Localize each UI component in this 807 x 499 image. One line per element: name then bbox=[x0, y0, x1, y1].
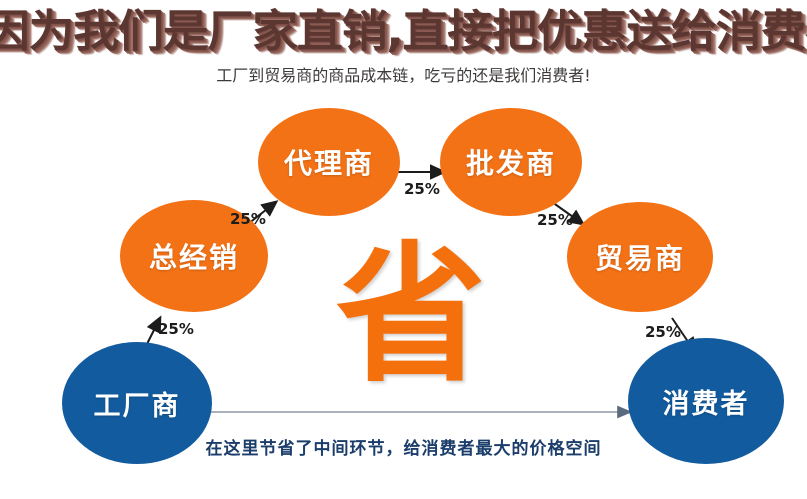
page-subtitle: 工厂到贸易商的商品成本链，吃亏的还是我们消费者! bbox=[0, 62, 807, 86]
node-agent-label: 代理商 bbox=[284, 142, 374, 182]
markup-label-distributor-to-agent: 25% bbox=[230, 210, 266, 228]
page-title: 因为我们是厂家直销,直接把优惠送给消费者 bbox=[0, 4, 807, 60]
markup-label-wholesale-to-trader: 25% bbox=[537, 211, 573, 229]
node-wholesaler-label: 批发商 bbox=[466, 142, 556, 182]
footnote-text: 在这里节省了中间环节，给消费者最大的价格空间 bbox=[0, 434, 807, 459]
node-agent: 代理商 bbox=[258, 108, 400, 216]
infographic-canvas: 因为我们是厂家直销,直接把优惠送给消费者 工厂到贸易商的商品成本链，吃亏的还是我… bbox=[0, 0, 807, 499]
markup-label-factory-to-distributor: 25% bbox=[158, 320, 194, 338]
markup-label-agent-to-wholesale: 25% bbox=[404, 180, 440, 198]
node-wholesaler: 批发商 bbox=[440, 108, 582, 216]
node-distributor-label: 总经销 bbox=[149, 236, 239, 276]
markup-label-trader-to-consumer: 25% bbox=[645, 323, 681, 341]
node-factory-label: 工厂商 bbox=[94, 384, 181, 423]
node-trader-label: 贸易商 bbox=[595, 237, 685, 277]
node-trader: 贸易商 bbox=[567, 202, 713, 312]
node-consumer-label: 消费者 bbox=[663, 382, 750, 421]
center-savings-glyph: 省 bbox=[333, 236, 489, 396]
